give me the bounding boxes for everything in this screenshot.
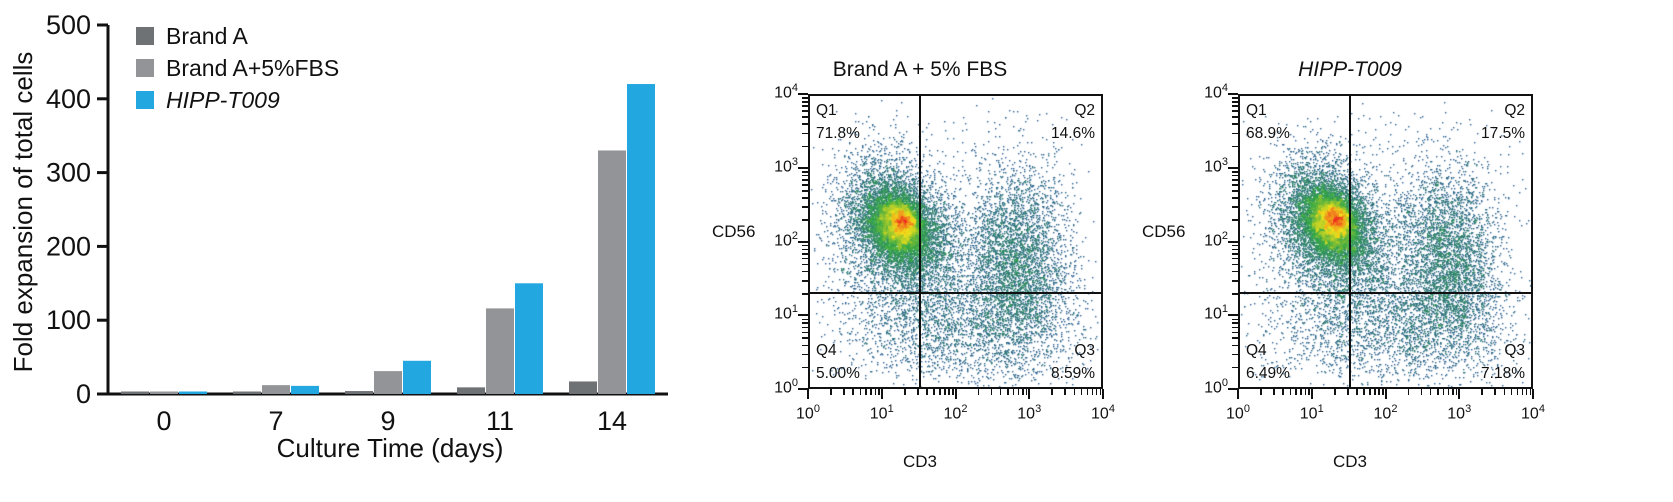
q4-id: Q4 [1246,342,1267,359]
flow-x-minor-tick [1448,389,1450,395]
flow-y-minor-tick [1232,179,1238,181]
flow-y-tick-label: 100 [742,377,798,397]
flow-x-major-tick [1028,389,1030,399]
flow-x-tick-label: 102 [1361,403,1411,423]
flow-x-minor-tick [1007,389,1009,395]
flow-x-minor-tick [1013,389,1015,395]
y-tick-label: 0 [76,379,91,409]
quadrant-vertical-line-2 [1349,96,1351,387]
q3-id: Q3 [1504,342,1525,359]
flow-plot-panel-1: Brand A + 5% FBS CD56 CD3 Q1 71.8% Q2 14… [690,0,1150,502]
flow-y-minor-tick [1232,133,1238,135]
flow-y-minor-tick [802,184,808,186]
flow-y-minor-tick [1232,253,1238,255]
quadrant-horizontal-line-1 [810,292,1101,294]
flow-x-major-tick [1311,389,1313,399]
flow-x-minor-tick [1087,389,1089,395]
flow-y-tick-label: 101 [742,303,798,323]
flow-y-minor-tick [802,293,808,295]
bar [457,387,485,394]
x-tick-label: 14 [597,406,627,436]
flow-y-tick-label: 100 [1172,377,1228,397]
flow-x-tick-label: 103 [1434,403,1484,423]
bar [569,381,597,394]
flow-x-minor-tick [860,389,862,395]
bar [627,84,655,394]
flow-x-minor-tick [1494,389,1496,395]
flow-x-minor-tick [1437,389,1439,395]
flow-y-minor-tick [1232,116,1238,118]
flow-y-minor-tick [1232,123,1238,125]
y-tick-label: 500 [46,10,91,40]
flow-x-minor-tick [1430,389,1432,395]
flow-y-minor-tick [1232,280,1238,282]
flow-x-tick-label: 100 [1213,403,1263,423]
flow-y-minor-tick [802,354,808,356]
flow-y-tick-label: 102 [742,230,798,250]
flow-x-minor-tick [1374,389,1376,395]
flow-x-minor-tick [1382,389,1384,395]
flow-y-minor-tick [802,179,808,181]
flow-x-minor-tick [875,389,877,395]
q4-percent: 6.49% [1246,362,1290,385]
flow-y-tick-label: 104 [1172,82,1228,102]
flow-x-minor-tick [1530,389,1532,395]
legend-label: Brand A+5%FBS [166,55,339,81]
flow-x-minor-tick [1260,389,1262,395]
flow-x-minor-tick [843,389,845,395]
flow-y-minor-tick [1232,249,1238,251]
x-axis-ticks: 0791114 [156,406,627,436]
flow-x-minor-tick [1421,389,1423,395]
flow-x-minor-tick [944,389,946,395]
flow-x-minor-tick [939,389,941,395]
bar [486,308,514,394]
bar [121,392,149,395]
flow-x-minor-tick [1295,389,1297,395]
flow-x-minor-tick [1443,389,1445,395]
flow-plot-panel-2: HIPP-T009 CD56 CD3 Q1 68.9% Q2 17.5% Q3 … [1120,0,1580,502]
flow-y-minor-tick [802,271,808,273]
x-tick-label: 7 [268,406,283,436]
bar-chart-panel: Fold expansion of total cells 0100200300… [0,0,700,502]
flow-y-minor-tick [802,116,808,118]
flow-x-minor-tick [878,389,880,395]
x-tick-label: 0 [156,406,171,436]
flow-x-minor-tick [1064,389,1066,395]
flow-x-minor-tick [952,389,954,395]
bar [403,361,431,394]
flow-y-minor-tick [802,327,808,329]
flow-title-2: HIPP-T009 [1120,58,1580,82]
flow-y-minor-tick [802,367,808,369]
flow-x-axis-label-1: CD3 [690,452,1150,472]
flow-y-major-tick [798,93,808,95]
flow-x-minor-tick [1100,389,1102,395]
quadrant-label-q2-1: Q2 14.6% [1051,99,1095,146]
y-tick-label: 200 [46,231,91,261]
flow-y-tick-label: 103 [1172,156,1228,176]
flow-y-tick-label: 102 [1172,230,1228,250]
flow-y-minor-tick [802,97,808,99]
flow-x-tick-label: 101 [1287,403,1337,423]
flow-y-minor-tick [1232,197,1238,199]
bar [515,283,543,394]
bar-chart-svg: Fold expansion of total cells 0100200300… [0,0,700,502]
flow-y-minor-tick [802,171,808,173]
flow-y-minor-tick [1232,322,1238,324]
flow-y-minor-tick [1232,101,1238,103]
flow-x-minor-tick [1092,389,1094,395]
flow-x-minor-tick [991,389,993,395]
flow-y-minor-tick [802,264,808,266]
flow-y-minor-tick [1232,271,1238,273]
flow-x-minor-tick [1300,389,1302,395]
legend-label: Brand A [166,23,248,49]
flow-y-minor-tick [1232,105,1238,107]
flow-x-minor-tick [870,389,872,395]
flow-x-minor-tick [1308,389,1310,395]
flow-x-minor-tick [1408,389,1410,395]
bars-group [121,84,655,394]
bar [374,371,402,394]
legend-label: HIPP-T009 [166,87,280,113]
flow-x-minor-tick [948,389,950,395]
flow-y-minor-tick [1232,258,1238,260]
flow-y-minor-tick [802,253,808,255]
flow-y-minor-tick [802,146,808,148]
flow-y-major-tick [798,241,808,243]
flow-y-minor-tick [1232,206,1238,208]
legend-swatch [136,59,154,77]
flow-y-major-tick [1228,314,1238,316]
flow-x-minor-tick [1018,389,1020,395]
bar [598,150,626,394]
x-tick-label: 9 [380,406,395,436]
flow-x-minor-tick [926,389,928,395]
y-axis-title: Fold expansion of total cells [8,52,38,373]
flow-x-minor-tick [865,389,867,395]
legend-swatch [136,91,154,109]
flow-x-minor-tick [1096,389,1098,395]
q2-id: Q2 [1074,102,1095,119]
bar [233,392,261,395]
flow-y-minor-tick [802,175,808,177]
flow-x-tick-label: 100 [783,403,833,423]
flow-x-tick-label: 102 [931,403,981,423]
flow-x-minor-tick [1511,389,1513,395]
flow-y-minor-tick [802,123,808,125]
flow-x-tick-label: 104 [1508,403,1558,423]
q3-percent: 8.59% [1051,362,1095,385]
flow-y-minor-tick [1232,245,1238,247]
flow-y-minor-tick [802,337,808,339]
bar [150,392,178,395]
flow-y-minor-tick [802,219,808,221]
flow-y-minor-tick [1232,219,1238,221]
quadrant-label-q2-2: Q2 17.5% [1481,99,1525,146]
q4-id: Q4 [816,342,837,359]
flow-y-minor-tick [1232,332,1238,334]
flow-x-major-tick [1102,389,1104,399]
flow-y-minor-tick [1232,110,1238,112]
quadrant-label-q3-2: Q3 7.18% [1481,339,1525,386]
flow-y-minor-tick [1232,146,1238,148]
flow-y-minor-tick [802,110,808,112]
flow-x-minor-tick [904,389,906,395]
flow-x-minor-tick [978,389,980,395]
flow-y-tick-label: 103 [742,156,798,176]
flow-y-minor-tick [802,101,808,103]
q4-percent: 5.00% [816,362,860,385]
x-axis-title: Culture Time (days) [277,433,504,463]
flow-x-minor-tick [852,389,854,395]
flow-x-minor-tick [1356,389,1358,395]
flow-y-minor-tick [802,133,808,135]
flow-x-minor-tick [1026,389,1028,395]
flow-y-minor-tick [802,105,808,107]
flow-y-minor-tick [1232,184,1238,186]
flow-y-minor-tick [802,245,808,247]
flow-y-minor-tick [1232,264,1238,266]
bar [291,386,319,394]
flow-x-minor-tick [1000,389,1002,395]
flow-y-minor-tick [802,345,808,347]
flow-x-tick-label: 103 [1004,403,1054,423]
quadrant-label-q1-1: Q1 71.8% [816,99,860,146]
flow-y-minor-tick [1232,190,1238,192]
quadrant-label-q3-1: Q3 8.59% [1051,339,1095,386]
flow-x-major-tick [1237,389,1239,399]
y-axis: 0100200300400500 [46,10,108,409]
flow-x-minor-tick [1305,389,1307,395]
flow-y-minor-tick [802,258,808,260]
legend-swatch [136,27,154,45]
x-tick-label: 11 [486,406,514,436]
flow-y-minor-tick [1232,337,1238,339]
flow-y-minor-tick [802,280,808,282]
q1-percent: 71.8% [816,122,860,145]
flow-x-tick-label: 101 [857,403,907,423]
flow-y-minor-tick [1232,354,1238,356]
y-tick-label: 100 [46,305,91,335]
flow-x-minor-tick [1081,389,1083,395]
q1-percent: 68.9% [1246,122,1290,145]
q3-percent: 7.18% [1481,362,1525,385]
flow-x-minor-tick [1526,389,1528,395]
flow-y-major-tick [798,314,808,316]
q2-percent: 17.5% [1481,122,1525,145]
flow-x-minor-tick [1334,389,1336,395]
flow-y-minor-tick [802,332,808,334]
q1-id: Q1 [1246,102,1267,119]
q3-id: Q3 [1074,342,1095,359]
figure-root: Fold expansion of total cells 0100200300… [0,0,1673,502]
flow-x-minor-tick [1022,389,1024,395]
flow-x-minor-tick [1517,389,1519,395]
flow-x-minor-tick [1074,389,1076,395]
flow-x-minor-tick [1452,389,1454,395]
flow-y-minor-tick [802,249,808,251]
flow-y-minor-tick [1232,327,1238,329]
y-tick-label: 300 [46,158,91,188]
flow-plot-area-2: Q1 68.9% Q2 17.5% Q3 7.18% Q4 6.49% [1238,94,1533,389]
q2-percent: 14.6% [1051,122,1095,145]
flow-title-1: Brand A + 5% FBS [690,58,1150,82]
flow-y-major-tick [798,167,808,169]
y-tick-label: 400 [46,84,91,114]
flow-x-minor-tick [1456,389,1458,395]
flow-x-minor-tick [830,389,832,395]
flow-x-minor-tick [1290,389,1292,395]
flow-x-minor-tick [1051,389,1053,395]
flow-y-minor-tick [1232,367,1238,369]
bar [345,391,373,394]
flow-y-minor-tick [1232,293,1238,295]
bar [262,385,290,394]
flow-x-axis-label-2: CD3 [1120,452,1580,472]
flow-x-major-tick [1532,389,1534,399]
quadrant-label-q1-2: Q1 68.9% [1246,99,1290,146]
flow-y-minor-tick [1232,319,1238,321]
flow-y-tick-label: 101 [1172,303,1228,323]
flow-y-minor-tick [802,206,808,208]
flow-x-minor-tick [933,389,935,395]
flow-x-minor-tick [1378,389,1380,395]
chart-legend: Brand ABrand A+5%FBSHIPP-T009 [136,23,339,113]
quadrant-horizontal-line-2 [1240,292,1531,294]
flow-x-minor-tick [1282,389,1284,395]
flow-x-major-tick [955,389,957,399]
flow-x-minor-tick [1369,389,1371,395]
flow-x-minor-tick [917,389,919,395]
flow-y-minor-tick [802,190,808,192]
flow-y-major-tick [1228,93,1238,95]
flow-x-major-tick [1458,389,1460,399]
quadrant-vertical-line-1 [919,96,921,387]
flow-y-tick-label: 104 [742,82,798,102]
flow-x-major-tick [1385,389,1387,399]
flow-x-minor-tick [1363,389,1365,395]
flow-y-minor-tick [1232,171,1238,173]
flow-x-minor-tick [1481,389,1483,395]
quadrant-label-q4-1: Q4 5.00% [816,339,860,386]
flow-y-minor-tick [1232,175,1238,177]
flow-x-minor-tick [1504,389,1506,395]
flow-x-minor-tick [1522,389,1524,395]
flow-x-major-tick [807,389,809,399]
flow-y-minor-tick [802,322,808,324]
flow-y-minor-tick [1232,97,1238,99]
quadrant-label-q4-2: Q4 6.49% [1246,339,1290,386]
flow-x-minor-tick [1273,389,1275,395]
flow-plot-area-1: Q1 71.8% Q2 14.6% Q3 8.59% Q4 5.00% [808,94,1103,389]
flow-y-major-tick [1228,241,1238,243]
flow-y-minor-tick [802,319,808,321]
flow-y-major-tick [1228,167,1238,169]
flow-y-minor-tick [1232,345,1238,347]
flow-x-major-tick [881,389,883,399]
q2-id: Q2 [1504,102,1525,119]
flow-y-minor-tick [802,197,808,199]
bar [179,392,207,395]
flow-x-minor-tick [1347,389,1349,395]
q1-id: Q1 [816,102,837,119]
